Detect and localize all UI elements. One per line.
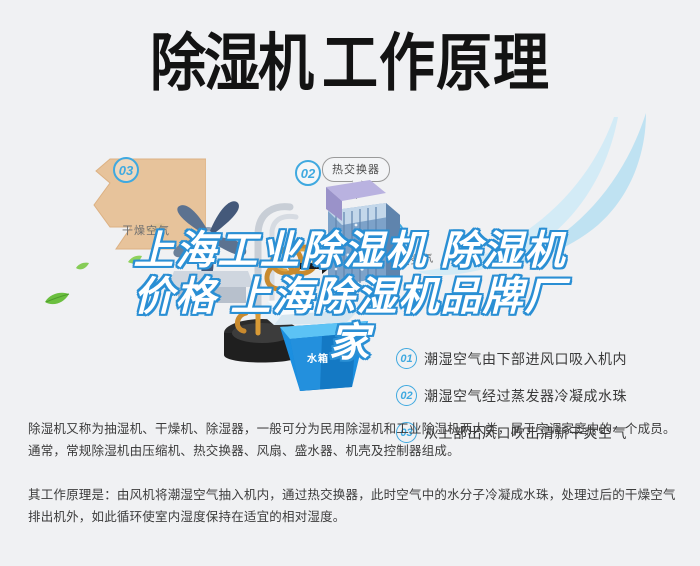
leaf-icon-2 xyxy=(76,262,89,271)
step-text: 潮湿空气经过蒸发器冷凝成水珠 xyxy=(424,386,627,406)
diagram-stage: 干燥空气 潮湿空气 03 02 01 热交换器 xyxy=(0,105,700,405)
water-tank-label: 水箱 xyxy=(307,350,329,365)
page-title: 除湿机工作原理 xyxy=(0,26,700,100)
title-part-2: 工作原理 xyxy=(322,27,550,98)
fan-blades xyxy=(173,201,246,279)
step-text: 潮湿空气由下部进风口吸入机内 xyxy=(424,349,627,369)
leaf-icon-4 xyxy=(128,255,142,265)
evaporator-coil xyxy=(326,180,400,287)
title-part-1: 除湿机 xyxy=(150,27,312,98)
badge-03: 03 xyxy=(113,157,139,183)
list-item: 01 潮湿空气由下部进风口吸入机内 xyxy=(396,348,696,369)
paragraph-2: 其工作原理是：由风机将潮湿空气抽入机内，通过热交换器，此时空气中的水分子冷凝成水… xyxy=(28,484,676,528)
paragraph-1: 除湿机又称为抽湿机、干燥机、除湿器，一般可分为民用除湿机和工业除湿机两大类，属于… xyxy=(28,418,676,462)
infographic-page: 除湿机工作原理 xyxy=(0,0,700,566)
paragraph-spacer xyxy=(28,471,676,484)
leaf-icon-1 xyxy=(44,291,70,307)
air-flow-swoosh-icon xyxy=(418,111,648,281)
list-item: 02 潮湿空气经过蒸发器冷凝成水珠 xyxy=(396,385,696,406)
step-number: 02 xyxy=(396,385,417,406)
body-copy: 除湿机又称为抽湿机、干燥机、除湿器，一般可分为民用除湿机和工业除湿机两大类，属于… xyxy=(28,418,676,528)
step-number: 01 xyxy=(396,348,417,369)
title-text: 除湿机工作原理 xyxy=(150,32,550,95)
